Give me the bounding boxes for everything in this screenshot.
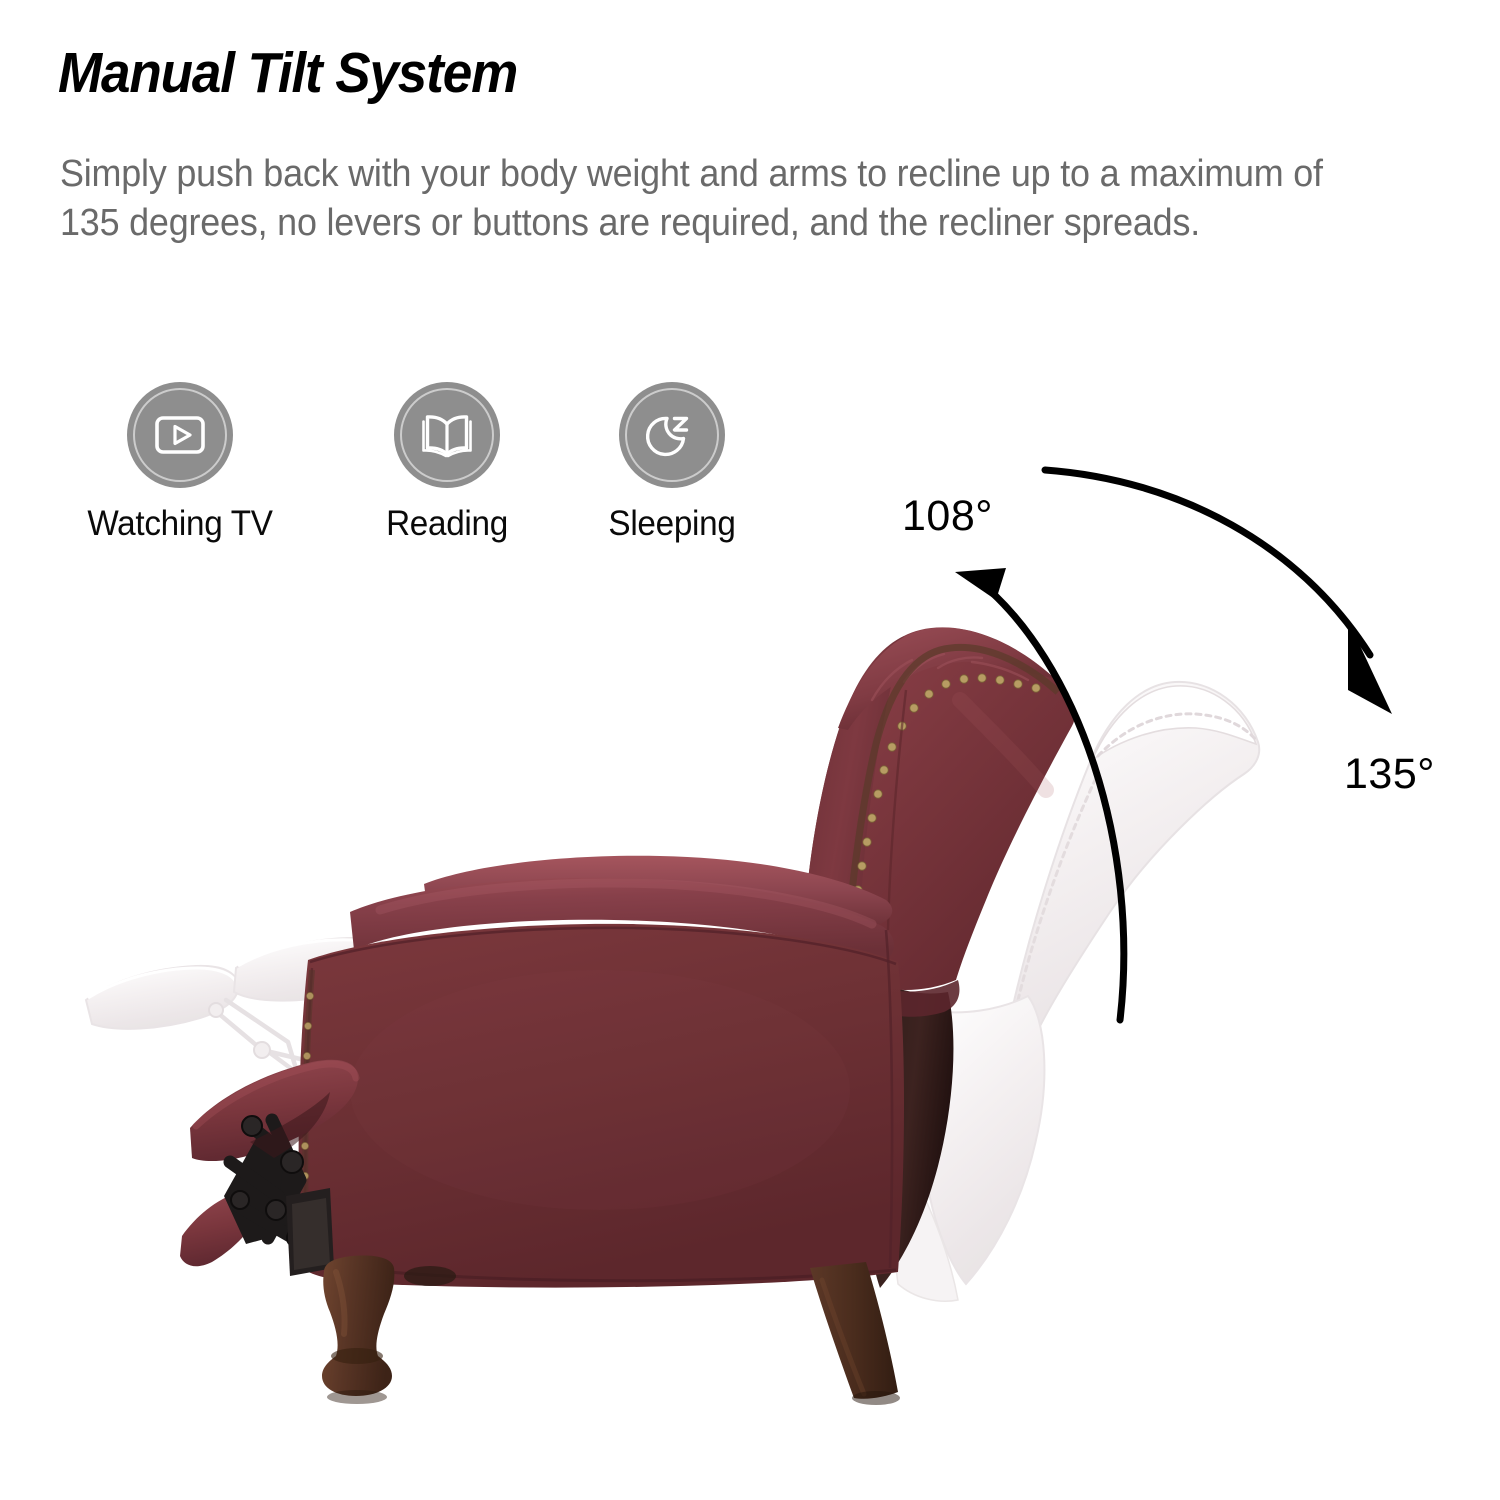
feature-label: Sleeping (563, 504, 782, 544)
curved-arrow-down-right (1045, 470, 1392, 714)
ghost-reclined-chair (86, 682, 1259, 1301)
angle-label-108: 108° (902, 492, 993, 541)
feature-item-sleeping: Sleeping (557, 382, 787, 544)
tv-play-icon (127, 382, 233, 488)
armrest-roll (350, 878, 894, 964)
feature-label: Reading (338, 504, 557, 544)
chair-armrest-and-seat (299, 856, 904, 1288)
chair-side-panel (299, 924, 904, 1288)
angle-arrows (955, 470, 1392, 1020)
feature-item-watching-tv: Watching TV (65, 382, 295, 544)
page-description: Simply push back with your body weight a… (60, 150, 1383, 248)
extended-footrest (180, 1060, 358, 1276)
feature-label: Watching TV (71, 504, 290, 544)
recliner-mechanism (224, 1116, 334, 1276)
front-wood-leg (322, 1256, 394, 1405)
open-book-icon (394, 382, 500, 488)
back-cushion-roll (424, 856, 892, 924)
nailhead-trim (844, 647, 1058, 976)
feature-list: Watching TV Reading Sleeping (0, 382, 820, 582)
curved-arrow-left (955, 568, 1124, 1020)
nailhead-trim-front (301, 970, 313, 1240)
moon-sleep-icon (619, 382, 725, 488)
seat-glide (404, 1266, 456, 1286)
page-title: Manual Tilt System (58, 44, 517, 104)
chair-backrest (806, 627, 1075, 1016)
feature-item-reading: Reading (332, 382, 562, 544)
seatback-shadow-gap (862, 980, 953, 1288)
rear-wood-leg (810, 1262, 900, 1405)
angle-label-135: 135° (1344, 750, 1435, 799)
